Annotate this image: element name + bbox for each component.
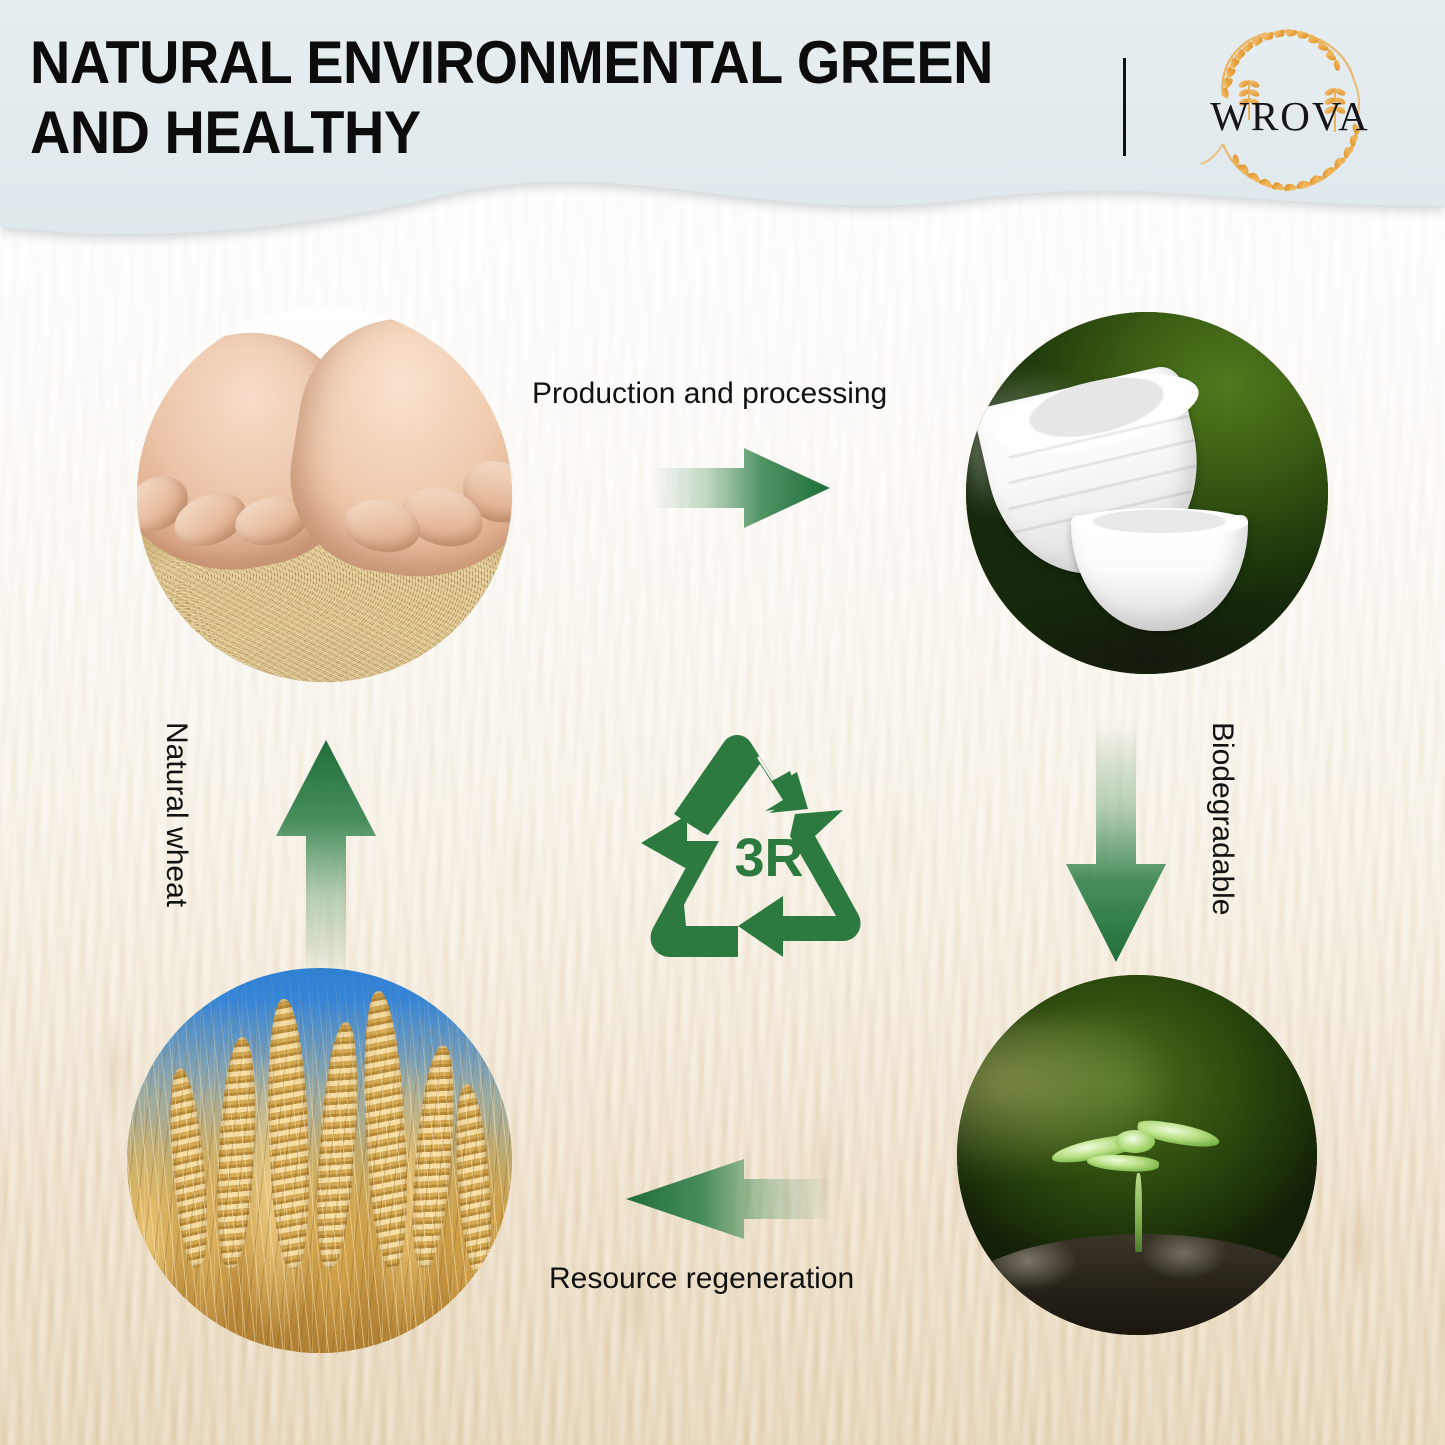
arrow-up-icon xyxy=(272,728,380,978)
header: NATURAL ENVIRONMENTAL GREEN AND HEALTHY xyxy=(0,0,1445,246)
sprout-leaf-center xyxy=(1115,1130,1155,1153)
brand-name: WROVA xyxy=(1175,92,1405,140)
recycle-symbol: 3R xyxy=(640,730,895,958)
arrow-left-icon xyxy=(596,1145,836,1253)
photo-green-sprout xyxy=(957,975,1317,1335)
label-production-and-processing: Production and processing xyxy=(532,377,887,411)
sprout-stem xyxy=(1135,1173,1142,1252)
header-divider xyxy=(1123,58,1126,156)
recycle-label: 3R xyxy=(734,828,803,888)
brand-logo: WROVA xyxy=(1175,22,1405,207)
photo-wheat-straw-bowls xyxy=(966,312,1328,674)
label-natural-wheat: Natural wheat xyxy=(159,722,193,907)
arrow-down-icon xyxy=(1062,724,1170,974)
photo-wheat-field xyxy=(127,968,512,1353)
poster: NATURAL ENVIRONMENTAL GREEN AND HEALTHY xyxy=(0,0,1445,1445)
arrow-right-icon xyxy=(652,434,892,542)
label-biodegradable: Biodegradable xyxy=(1205,722,1239,916)
wheat-awns xyxy=(127,968,512,1353)
brand-name-text: WROVA xyxy=(1210,93,1370,139)
photo-hands-holding-grain xyxy=(137,307,512,682)
page-title: NATURAL ENVIRONMENTAL GREEN AND HEALTHY xyxy=(30,28,1007,167)
label-resource-regeneration: Resource regeneration xyxy=(549,1262,854,1296)
bowl-front-rim xyxy=(1071,508,1248,537)
